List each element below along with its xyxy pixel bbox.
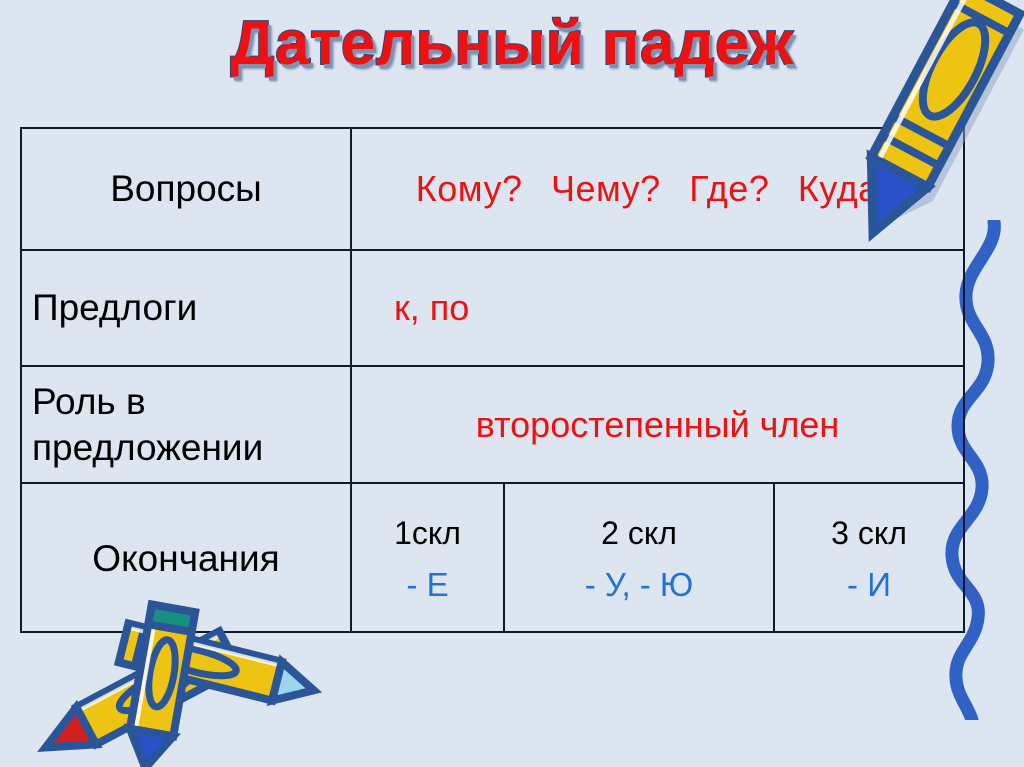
declensions-group: 1скл - Е 2 скл - У, - Ю 3 скл - И: [352, 484, 963, 633]
declension-2-name: 2 скл: [601, 516, 677, 551]
row-label-endings: Окончания: [22, 484, 352, 633]
declension-2: 2 скл - У, - Ю: [505, 484, 775, 633]
declension-3-name: 3 скл: [831, 516, 907, 551]
question-komu: Кому?: [416, 168, 523, 209]
question-chemu: Чему?: [551, 168, 661, 209]
page-title: Дательный падеж: [0, 8, 1024, 79]
table-row-endings: Окончания 1скл - Е 2 скл - У, - Ю 3 скл …: [22, 484, 963, 633]
declension-2-ending: - У, - Ю: [585, 567, 694, 603]
declension-1: 1скл - Е: [352, 484, 505, 633]
table-row-prepositions: Предлоги к, по: [22, 251, 963, 367]
question-kuda: Куда?: [798, 168, 899, 209]
table-row-role: Роль в предложении второстепенный член: [22, 367, 963, 484]
row-label-role: Роль в предложении: [22, 367, 352, 482]
declension-3-ending: - И: [847, 567, 891, 603]
slide-root: Дательный падеж: [0, 0, 1024, 767]
row-label-role-line2: предложении: [32, 427, 263, 468]
declension-3: 3 скл - И: [775, 484, 963, 633]
row-value-role: второстепенный член: [352, 367, 963, 482]
row-label-questions: Вопросы: [22, 129, 352, 249]
question-gde: Где?: [689, 168, 769, 209]
case-table: Вопросы Кому? Чему? Где? Куда? Предлоги …: [20, 127, 965, 633]
row-value-questions: Кому? Чему? Где? Куда?: [352, 129, 963, 249]
declension-1-name: 1скл: [394, 516, 461, 551]
row-label-prepositions: Предлоги: [22, 251, 352, 365]
row-label-role-line1: Роль в: [32, 381, 146, 422]
row-value-prepositions: к, по: [352, 251, 963, 365]
declension-1-ending: - Е: [406, 567, 448, 603]
table-row-questions: Вопросы Кому? Чему? Где? Куда?: [22, 129, 963, 251]
